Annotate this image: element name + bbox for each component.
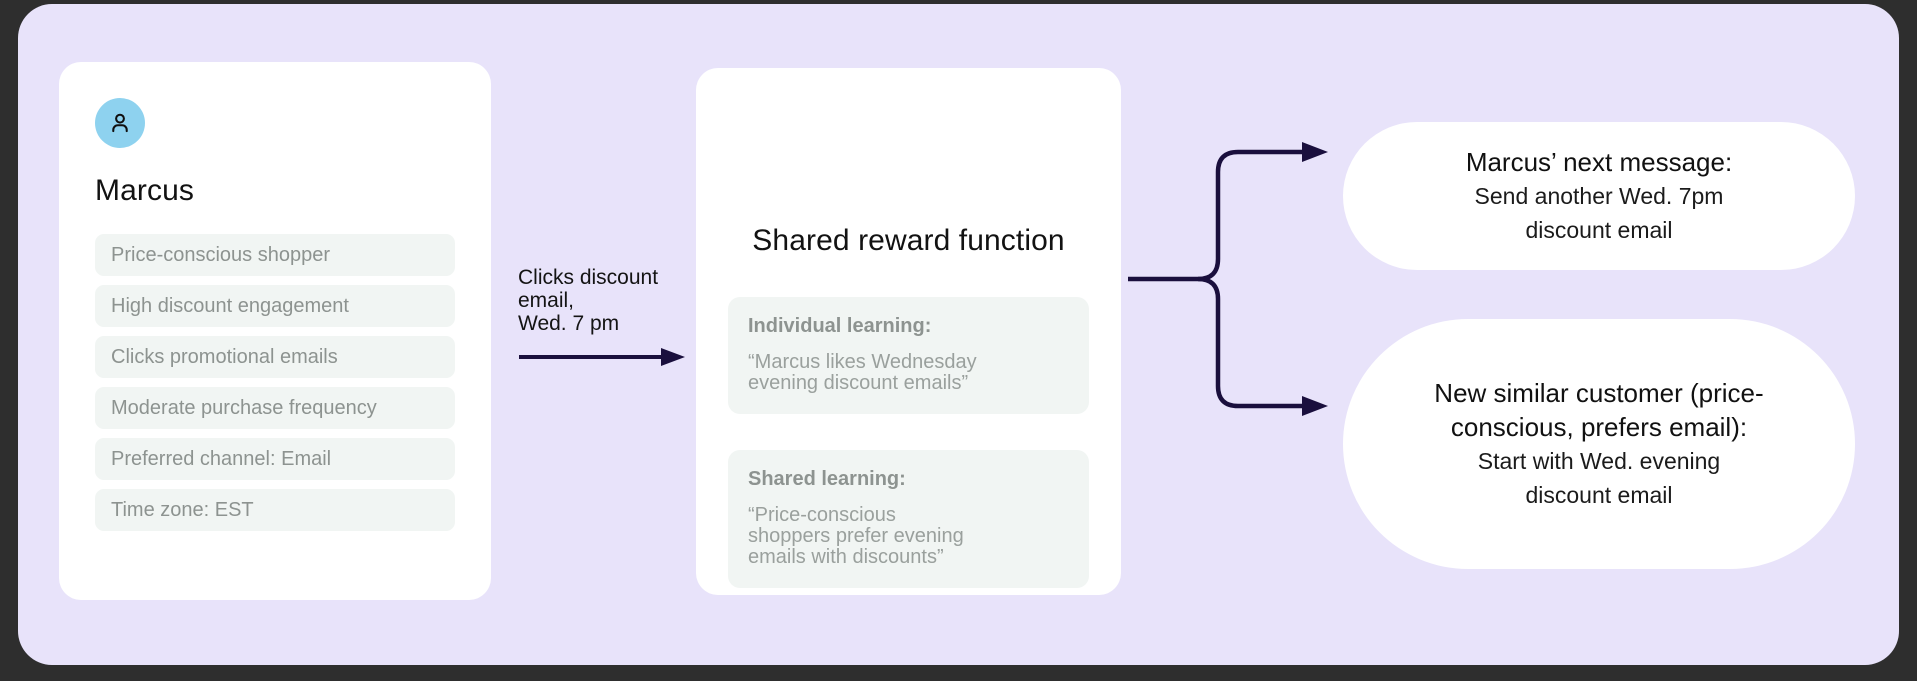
output-pill-next-message: Marcus’ next message: Send another Wed. … (1343, 122, 1855, 270)
attribute-chip: Clicks promotional emails (95, 336, 455, 378)
reward-function-card: Shared reward function Individual learni… (696, 68, 1121, 595)
person-icon (107, 110, 133, 136)
attribute-chip: High discount engagement (95, 285, 455, 327)
output-heading: Marcus’ next message: (1466, 145, 1732, 179)
output-heading: New similar customer (price-conscious, p… (1383, 376, 1815, 444)
attribute-chip: Time zone: EST (95, 489, 455, 531)
attribute-chip: Moderate purchase frequency (95, 387, 455, 429)
transition-label: Clicks discount email, Wed. 7 pm (518, 266, 688, 335)
output-pill-new-customer: New similar customer (price-conscious, p… (1343, 319, 1855, 569)
device-frame: Marcus Price-conscious shopper High disc… (0, 0, 1917, 681)
shared-learning-block: Shared learning: “Price-conscious shoppe… (728, 450, 1089, 588)
persona-attribute-list: Price-conscious shopper High discount en… (95, 234, 455, 531)
branching-arrow-icon (1128, 134, 1358, 424)
arrow-right-icon (518, 347, 685, 367)
diagram-canvas: Marcus Price-conscious shopper High disc… (18, 4, 1899, 665)
output-body: Send another Wed. 7pm discount email (1475, 179, 1724, 247)
individual-learning-block: Individual learning: “Marcus likes Wedne… (728, 297, 1089, 414)
shared-learning-quote: “Price-conscious shoppers prefer evening… (748, 505, 1069, 568)
persona-name: Marcus (95, 174, 455, 208)
transition-connector: Clicks discount email, Wed. 7 pm (518, 266, 688, 372)
output-body: Start with Wed. evening discount email (1478, 444, 1720, 512)
attribute-chip: Price-conscious shopper (95, 234, 455, 276)
avatar (95, 98, 145, 148)
shared-learning-label: Shared learning: (748, 468, 1069, 491)
persona-card: Marcus Price-conscious shopper High disc… (59, 62, 491, 600)
attribute-chip: Preferred channel: Email (95, 438, 455, 480)
individual-learning-label: Individual learning: (748, 315, 1069, 338)
reward-card-title: Shared reward function (728, 224, 1089, 258)
individual-learning-quote: “Marcus likes Wednesday evening discount… (748, 352, 1069, 394)
